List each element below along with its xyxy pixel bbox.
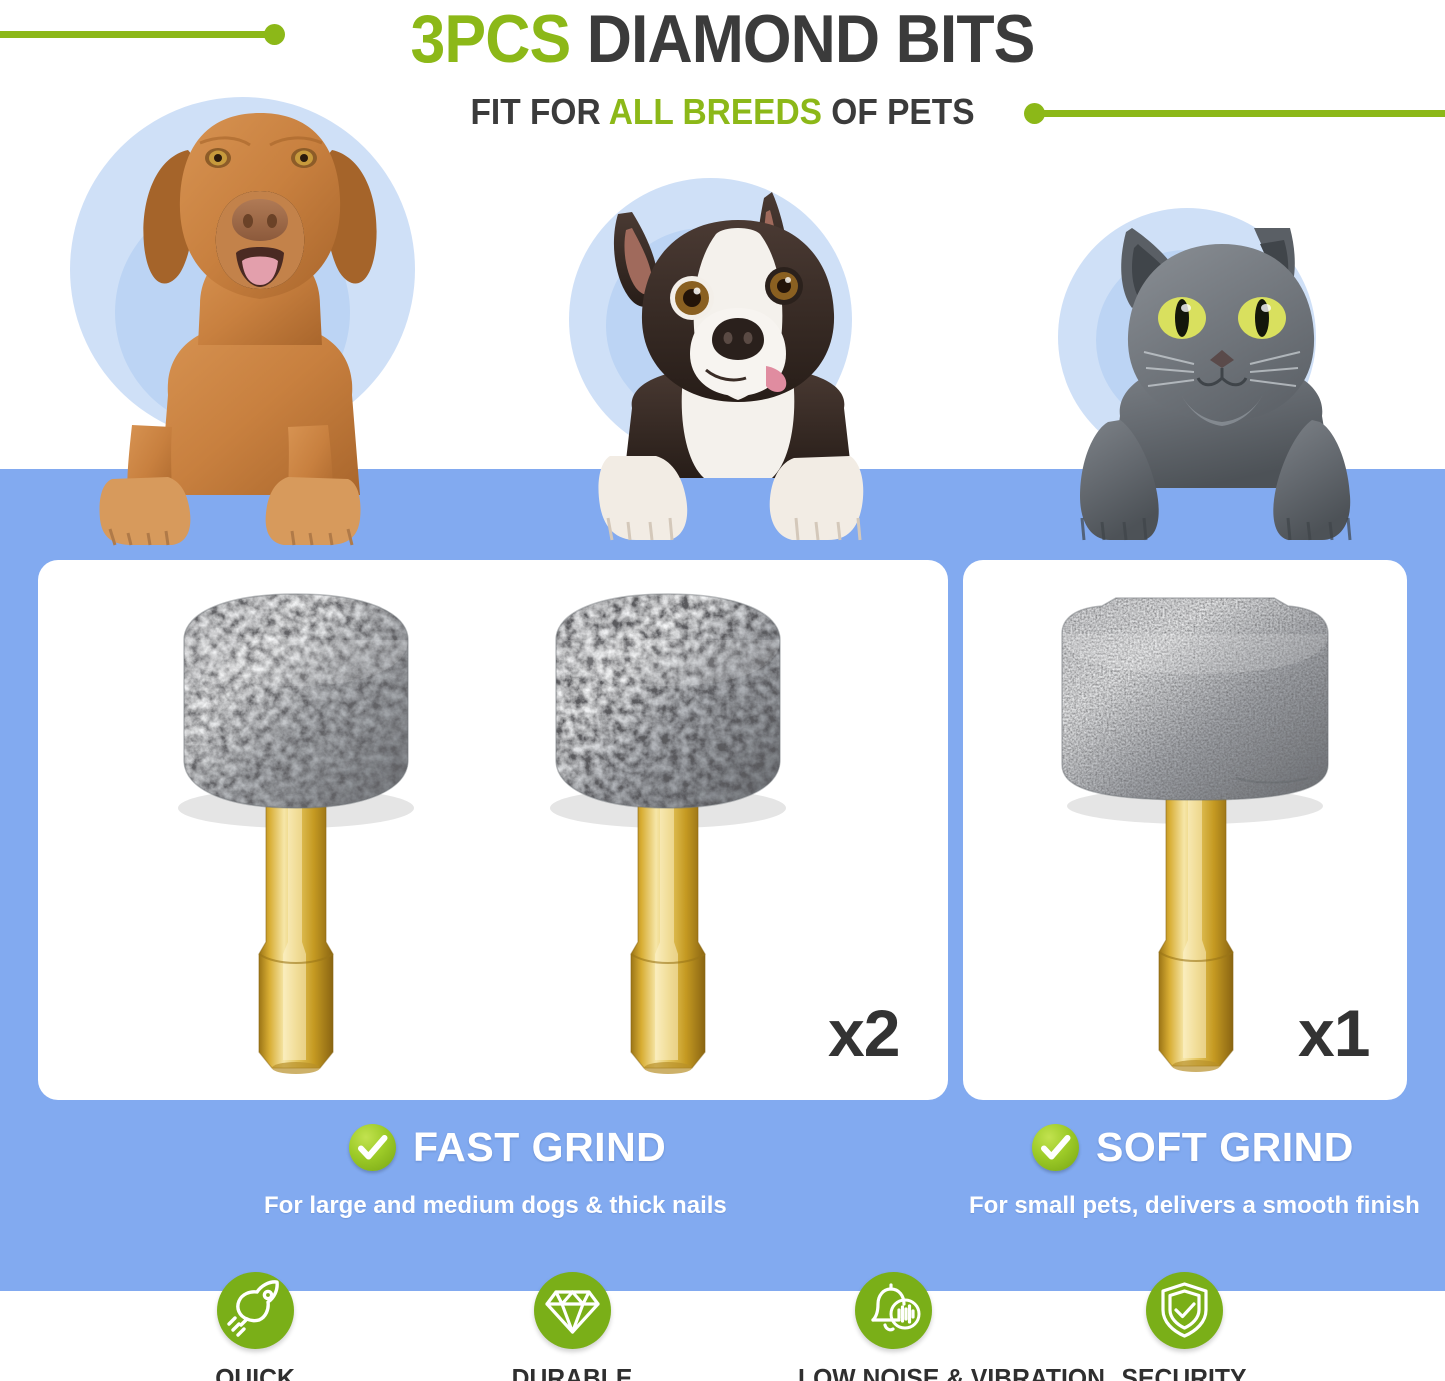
shield-check-icon (1146, 1272, 1223, 1349)
rocket-icon (217, 1272, 294, 1349)
check-circle-icon (349, 1124, 396, 1171)
pet-photo-boston-terrier-dog (566, 178, 911, 540)
diamond-bit-coarse-2 (518, 582, 818, 1092)
fast-grind-label-row: FAST GRIND (349, 1124, 666, 1171)
subtitle-suffix: OF PETS (831, 91, 974, 132)
gray-cat-illustration (1058, 208, 1383, 540)
soft-grind-subtitle: For small pets, delivers a smooth finish (969, 1192, 1420, 1220)
soft-grind-title: SOFT GRIND (1096, 1124, 1354, 1171)
feature-durable: DURABLE (472, 1272, 672, 1381)
feature-label: DURABLE (477, 1363, 667, 1381)
title-product: DIAMOND BITS (587, 1, 1035, 77)
bell-sound-icon (855, 1272, 932, 1349)
fast-grind-subtitle: For large and medium dogs & thick nails (264, 1192, 727, 1220)
feature-label: LOW NOISE & VIBRATION (798, 1363, 988, 1381)
fast-grind-title: FAST GRIND (413, 1124, 666, 1171)
diamond-icon (534, 1272, 611, 1349)
soft-grind-label-row: SOFT GRIND (1032, 1124, 1354, 1171)
pet-photo-vizsla-dog (60, 95, 460, 545)
feature-low-noise-vibration: LOW NOISE & VIBRATION (793, 1272, 993, 1381)
feature-icon-badge (217, 1272, 294, 1349)
subtitle-highlight: ALL BREEDS (609, 91, 822, 132)
feature-icon-badge (855, 1272, 932, 1349)
feature-label: SECURITY (1089, 1363, 1279, 1381)
subtitle-prefix: FIT FOR (470, 91, 600, 132)
feature-icon-badge (1146, 1272, 1223, 1349)
check-circle-icon (1032, 1124, 1079, 1171)
boston-terrier-illustration (566, 178, 911, 540)
diamond-bit-fine-1 (1040, 588, 1350, 1088)
feature-icon-badge (534, 1272, 611, 1349)
feature-label: QUICK (160, 1363, 350, 1381)
quantity-label-coarse: x2 (828, 995, 899, 1071)
diamond-bit-coarse-1 (146, 582, 446, 1092)
title-count: 3PCS (411, 1, 571, 77)
page-title: 3PCS DIAMOND BITS (58, 0, 1387, 78)
pet-photo-gray-cat (1058, 208, 1383, 540)
feature-quick: QUICK (155, 1272, 355, 1381)
vizsla-dog-illustration (60, 95, 460, 545)
product-infographic: 3PCS DIAMOND BITS FIT FOR ALL BREEDS OF … (0, 0, 1445, 1381)
feature-security: SECURITY (1084, 1272, 1284, 1381)
